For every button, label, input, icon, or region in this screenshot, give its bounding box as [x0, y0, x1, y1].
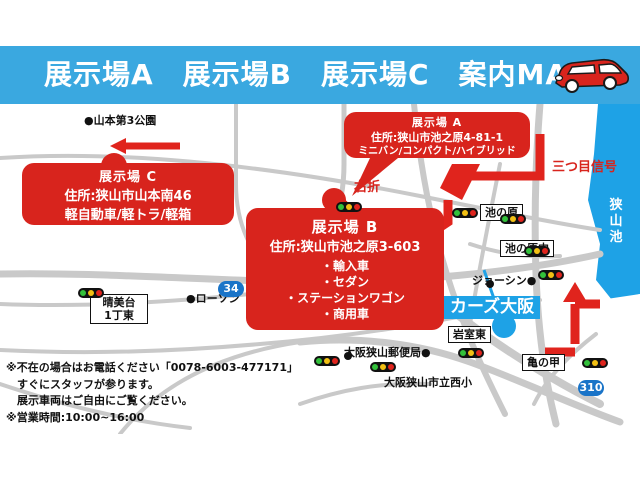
label-joshin: ジョーシン●	[472, 274, 536, 288]
callout-showroom-c[interactable]: 展示場 C 住所:狭山市山本南46 軽自動車/軽トラ/軽箱	[22, 163, 234, 225]
callout-c-address: 住所:狭山市山本南46	[22, 187, 234, 206]
route-shield-34: 34	[218, 281, 244, 297]
label-yamamoto-park: ●山本第3公園	[84, 114, 156, 128]
callout-b-address: 住所:狭山市池之原3-603	[246, 238, 444, 258]
note-line-3: 展示車両はご自由にご覧ください。	[6, 393, 306, 410]
label-nishi-elementary: 大阪狭山市立西小	[384, 376, 472, 390]
traffic-signal-kamenoko	[582, 358, 608, 368]
note-line-1: ※不在の場合はお電話ください「0078-6003-477171」	[6, 360, 306, 377]
traffic-signal-a	[336, 202, 362, 212]
callout-showroom-b[interactable]: 展示場 B 住所:狭山市池之原3-603 ・輸入車 ・セダン ・ステーションワゴ…	[246, 208, 444, 330]
callout-c-name: 展示場 C	[22, 168, 234, 187]
callout-b-item-3: ・商用車	[246, 306, 444, 322]
traffic-signal-west	[314, 356, 340, 366]
label-harumidai-1chome-higashi: 晴美台 1丁東	[90, 294, 148, 324]
harumidai-line1: 晴美台	[103, 296, 136, 309]
traffic-signal-harumidai	[78, 288, 104, 298]
callout-b-name: 展示場 B	[246, 216, 444, 238]
marker-joshin	[486, 280, 494, 288]
red-car-icon	[548, 56, 632, 96]
label-kamenoko: 亀の甲	[522, 354, 565, 371]
footer-notes: ※不在の場合はお電話ください「0078-6003-477171」 すぐにスタッフ…	[6, 360, 306, 426]
traffic-signal-ikenohara	[500, 214, 526, 224]
note-line-4: ※営業時間:10:00~16:00	[6, 410, 306, 427]
traffic-signal-ikenohara-naka	[524, 246, 550, 256]
traffic-signal-iwamuro	[370, 362, 396, 372]
traffic-signal-post-office	[458, 348, 484, 358]
note-line-2: すぐにスタッフが参ります。	[6, 377, 306, 394]
traffic-signal-joshin	[538, 270, 564, 280]
callout-a-name: 展示場 A	[344, 115, 530, 130]
callout-a-categories: ミニバン/コンパクト/ハイブリッド	[344, 145, 530, 159]
label-cars-osaka[interactable]: カーズ大阪	[444, 296, 540, 319]
harumidai-line2: 1丁東	[104, 309, 134, 322]
page-title: 展示場A 展示場B 展示場C 案内MAP	[44, 55, 590, 95]
traffic-signal-ikenohara-west	[452, 208, 478, 218]
callout-showroom-a[interactable]: 展示場 A 住所:狭山市池之原4-81-1 ミニバン/コンパクト/ハイブリッド	[344, 112, 530, 158]
label-third-signal: 三つ目信号	[552, 156, 617, 175]
callout-b-item-1: ・セダン	[246, 274, 444, 290]
callout-b-item-2: ・ステーションワゴン	[246, 290, 444, 306]
route-arrow-north	[563, 282, 587, 302]
callout-b-item-0: ・輸入車	[246, 258, 444, 274]
callout-c-categories: 軽自動車/軽トラ/軽箱	[22, 206, 234, 225]
label-sayama-pond: 狭山池	[608, 198, 624, 246]
label-post-office: 大阪狭山郵便局●	[344, 346, 431, 360]
label-turn-right: 右折	[354, 176, 380, 195]
callout-a-address: 住所:狭山市池之原4-81-1	[344, 130, 530, 145]
route-arrow-southwest	[440, 164, 480, 200]
marker-post-office	[344, 352, 352, 360]
route-shield-310: 310	[578, 380, 604, 396]
map-flyer: 展示場A 展示場B 展示場C 案内MAP	[0, 0, 640, 480]
label-iwamuro-higashi: 岩室東	[448, 326, 491, 343]
route-arrow-west	[110, 138, 126, 154]
